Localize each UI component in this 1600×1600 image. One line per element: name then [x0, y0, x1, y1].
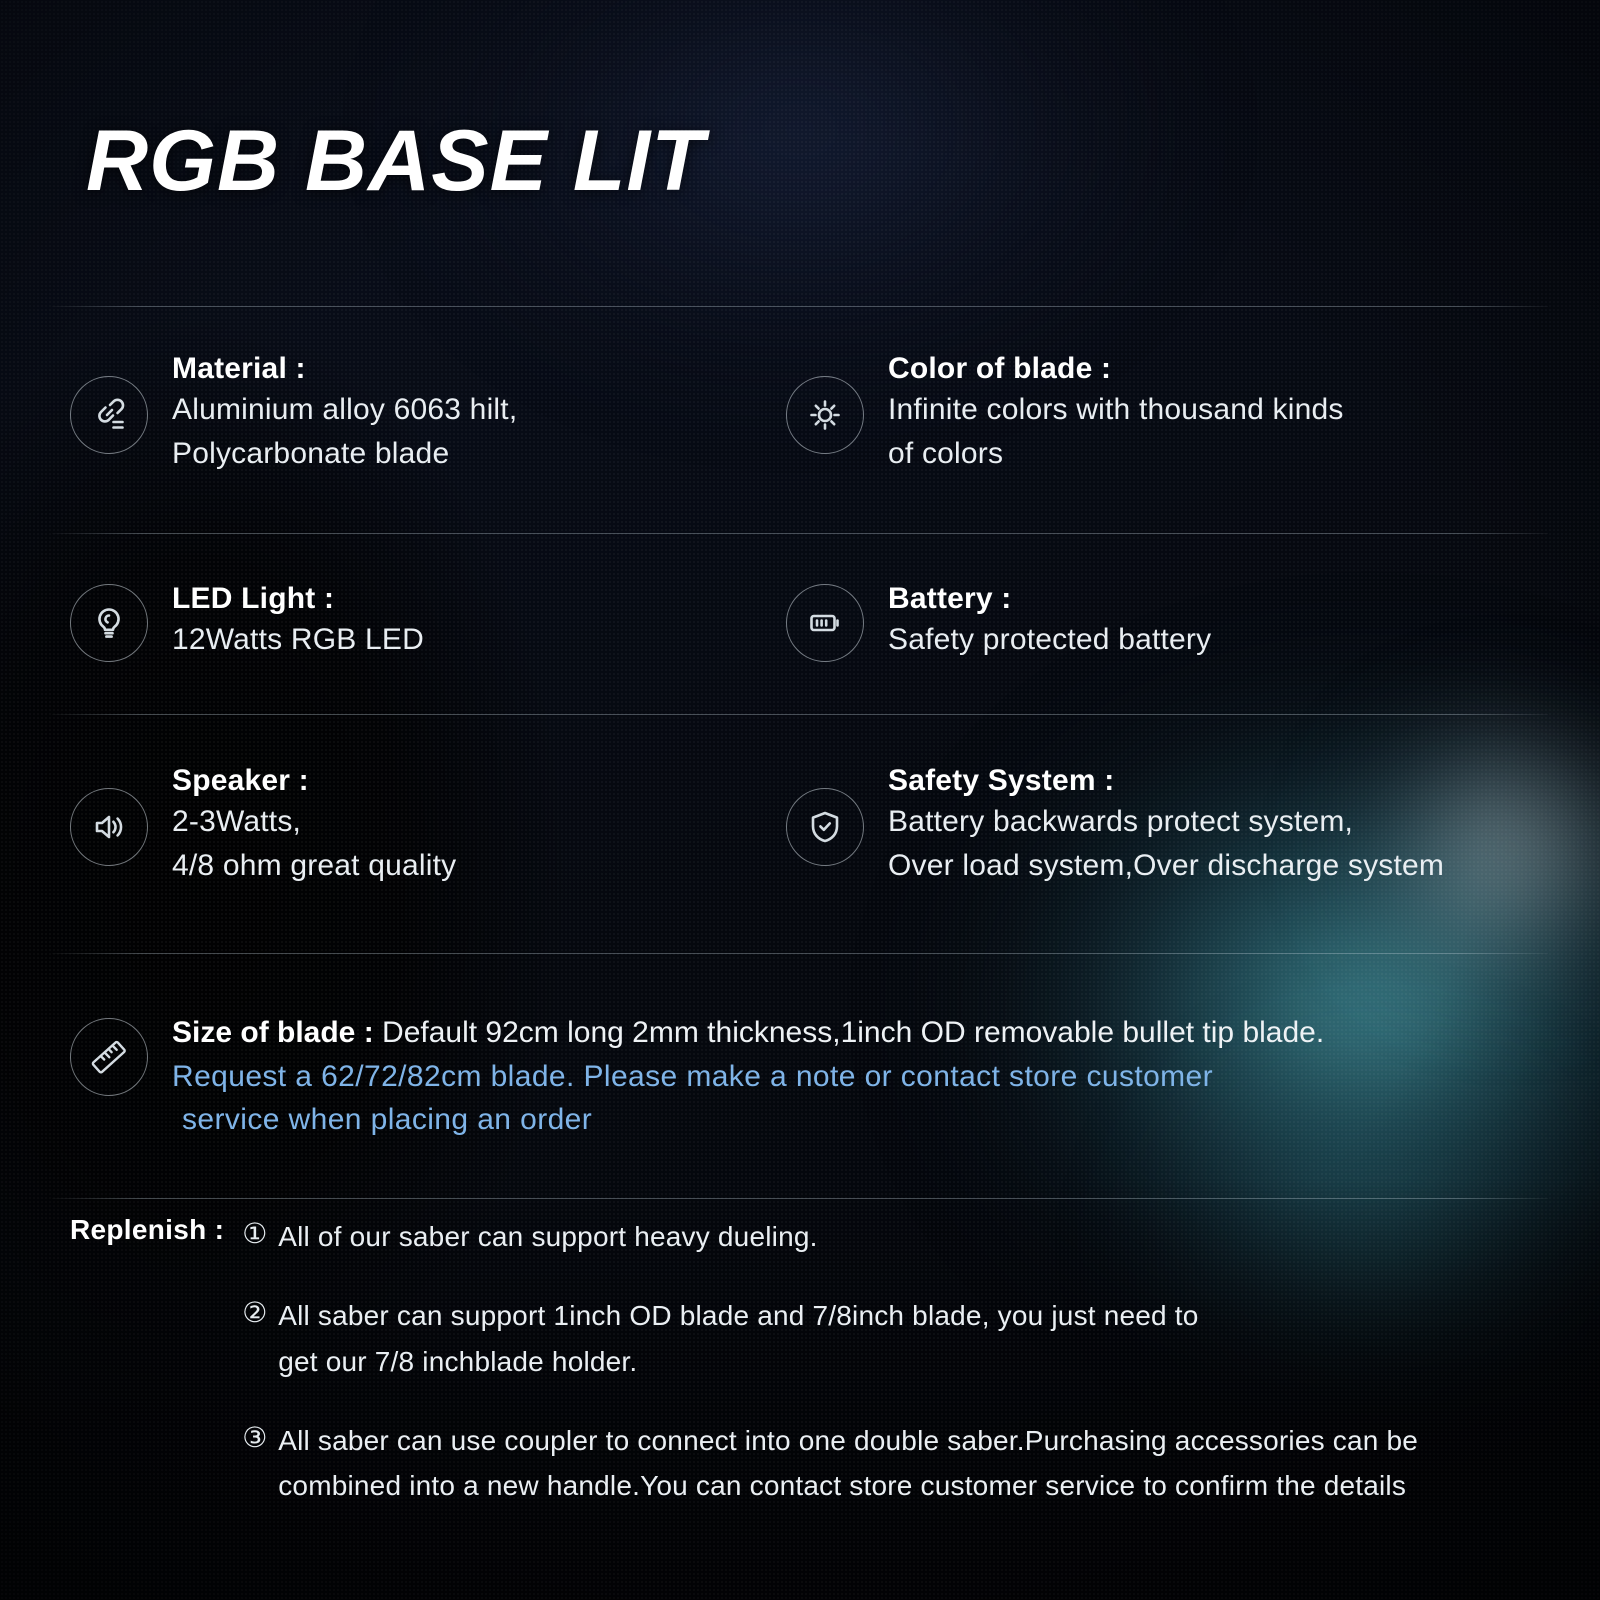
- battery-icon: [786, 584, 864, 662]
- replenish-number: ①: [242, 1196, 278, 1254]
- list-item: ③ All saber can use coupler to connect i…: [242, 1400, 1418, 1509]
- spec-item-speaker: Speaker : 2-3Watts, 4/8 ohm great qualit…: [70, 760, 456, 887]
- divider-4: [52, 953, 1548, 954]
- spec-heading: Material :: [172, 350, 517, 388]
- page-title: RGB BASE LIT: [86, 112, 705, 211]
- spec-text-safety-system: Safety System : Battery backwards protec…: [888, 760, 1444, 887]
- divider-2: [52, 533, 1548, 534]
- spec-text-speaker: Speaker : 2-3Watts, 4/8 ohm great qualit…: [172, 760, 456, 887]
- product-spec-page: RGB BASE LIT Material : Aluminium alloy …: [0, 0, 1600, 1600]
- size-of-blade-note-line-2: service when placing an order: [172, 1098, 1324, 1142]
- spec-line: Infinite colors with thousand kinds: [888, 388, 1344, 432]
- spec-line: Safety protected battery: [888, 618, 1211, 662]
- spec-heading: Safety System :: [888, 762, 1444, 800]
- size-of-blade-block: Size of blade : Default 92cm long 2mm th…: [70, 1012, 1324, 1142]
- spec-heading: Battery :: [888, 580, 1211, 618]
- spec-line: Polycarbonate blade: [172, 432, 517, 476]
- spec-text-material: Material : Aluminium alloy 6063 hilt, Po…: [172, 348, 517, 475]
- link-icon: [70, 376, 148, 454]
- spec-line: of colors: [888, 432, 1344, 476]
- spec-line: Over load system,Over discharge system: [888, 844, 1444, 888]
- spec-item-safety-system: Safety System : Battery backwards protec…: [786, 760, 1444, 887]
- size-of-blade-note-line-1: Request a 62/72/82cm blade. Please make …: [172, 1055, 1324, 1099]
- spec-heading: LED Light :: [172, 580, 424, 618]
- size-of-blade-default-value: Default 92cm long 2mm thickness,1inch OD…: [382, 1016, 1324, 1049]
- content-layer: RGB BASE LIT Material : Aluminium alloy …: [0, 0, 1600, 1600]
- list-item: ① All of our saber can support heavy due…: [242, 1196, 1418, 1259]
- spec-line: 2-3Watts,: [172, 800, 456, 844]
- divider-3: [52, 714, 1548, 715]
- divider-1: [52, 306, 1548, 307]
- spec-line: 4/8 ohm great quality: [172, 844, 456, 888]
- lightbulb-icon: [70, 584, 148, 662]
- size-of-blade-default: Size of blade : Default 92cm long 2mm th…: [172, 1012, 1324, 1055]
- list-item: ② All saber can support 1inch OD blade a…: [242, 1275, 1418, 1384]
- replenish-block: Replenish : ① All of our saber can suppo…: [70, 1196, 1418, 1525]
- spec-text-led-light: LED Light : 12Watts RGB LED: [172, 578, 424, 662]
- ruler-icon: [70, 1018, 148, 1096]
- size-of-blade-heading: Size of blade :: [172, 1016, 374, 1049]
- spec-item-led-light: LED Light : 12Watts RGB LED: [70, 578, 424, 662]
- spec-line: Aluminium alloy 6063 hilt,: [172, 388, 517, 432]
- spec-item-battery: Battery : Safety protected battery: [786, 578, 1211, 662]
- size-of-blade-text: Size of blade : Default 92cm long 2mm th…: [172, 1012, 1324, 1142]
- replenish-number: ②: [242, 1275, 278, 1333]
- spec-heading: Speaker :: [172, 762, 456, 800]
- replenish-label: Replenish :: [70, 1196, 224, 1246]
- spec-item-color-of-blade: Color of blade : Infinite colors with th…: [786, 348, 1344, 475]
- replenish-text: All saber can use coupler to connect int…: [278, 1400, 1418, 1509]
- spec-line: Battery backwards protect system,: [888, 800, 1444, 844]
- replenish-number: ③: [242, 1400, 278, 1458]
- brightness-icon: [786, 376, 864, 454]
- spec-line: 12Watts RGB LED: [172, 618, 424, 662]
- replenish-text: All of our saber can support heavy dueli…: [278, 1196, 817, 1259]
- spec-text-battery: Battery : Safety protected battery: [888, 578, 1211, 662]
- spec-heading: Color of blade :: [888, 350, 1344, 388]
- speaker-icon: [70, 788, 148, 866]
- shield-check-icon: [786, 788, 864, 866]
- spec-item-material: Material : Aluminium alloy 6063 hilt, Po…: [70, 348, 517, 475]
- replenish-list: ① All of our saber can support heavy due…: [242, 1196, 1418, 1525]
- replenish-text: All saber can support 1inch OD blade and…: [278, 1275, 1198, 1384]
- spec-text-color-of-blade: Color of blade : Infinite colors with th…: [888, 348, 1344, 475]
